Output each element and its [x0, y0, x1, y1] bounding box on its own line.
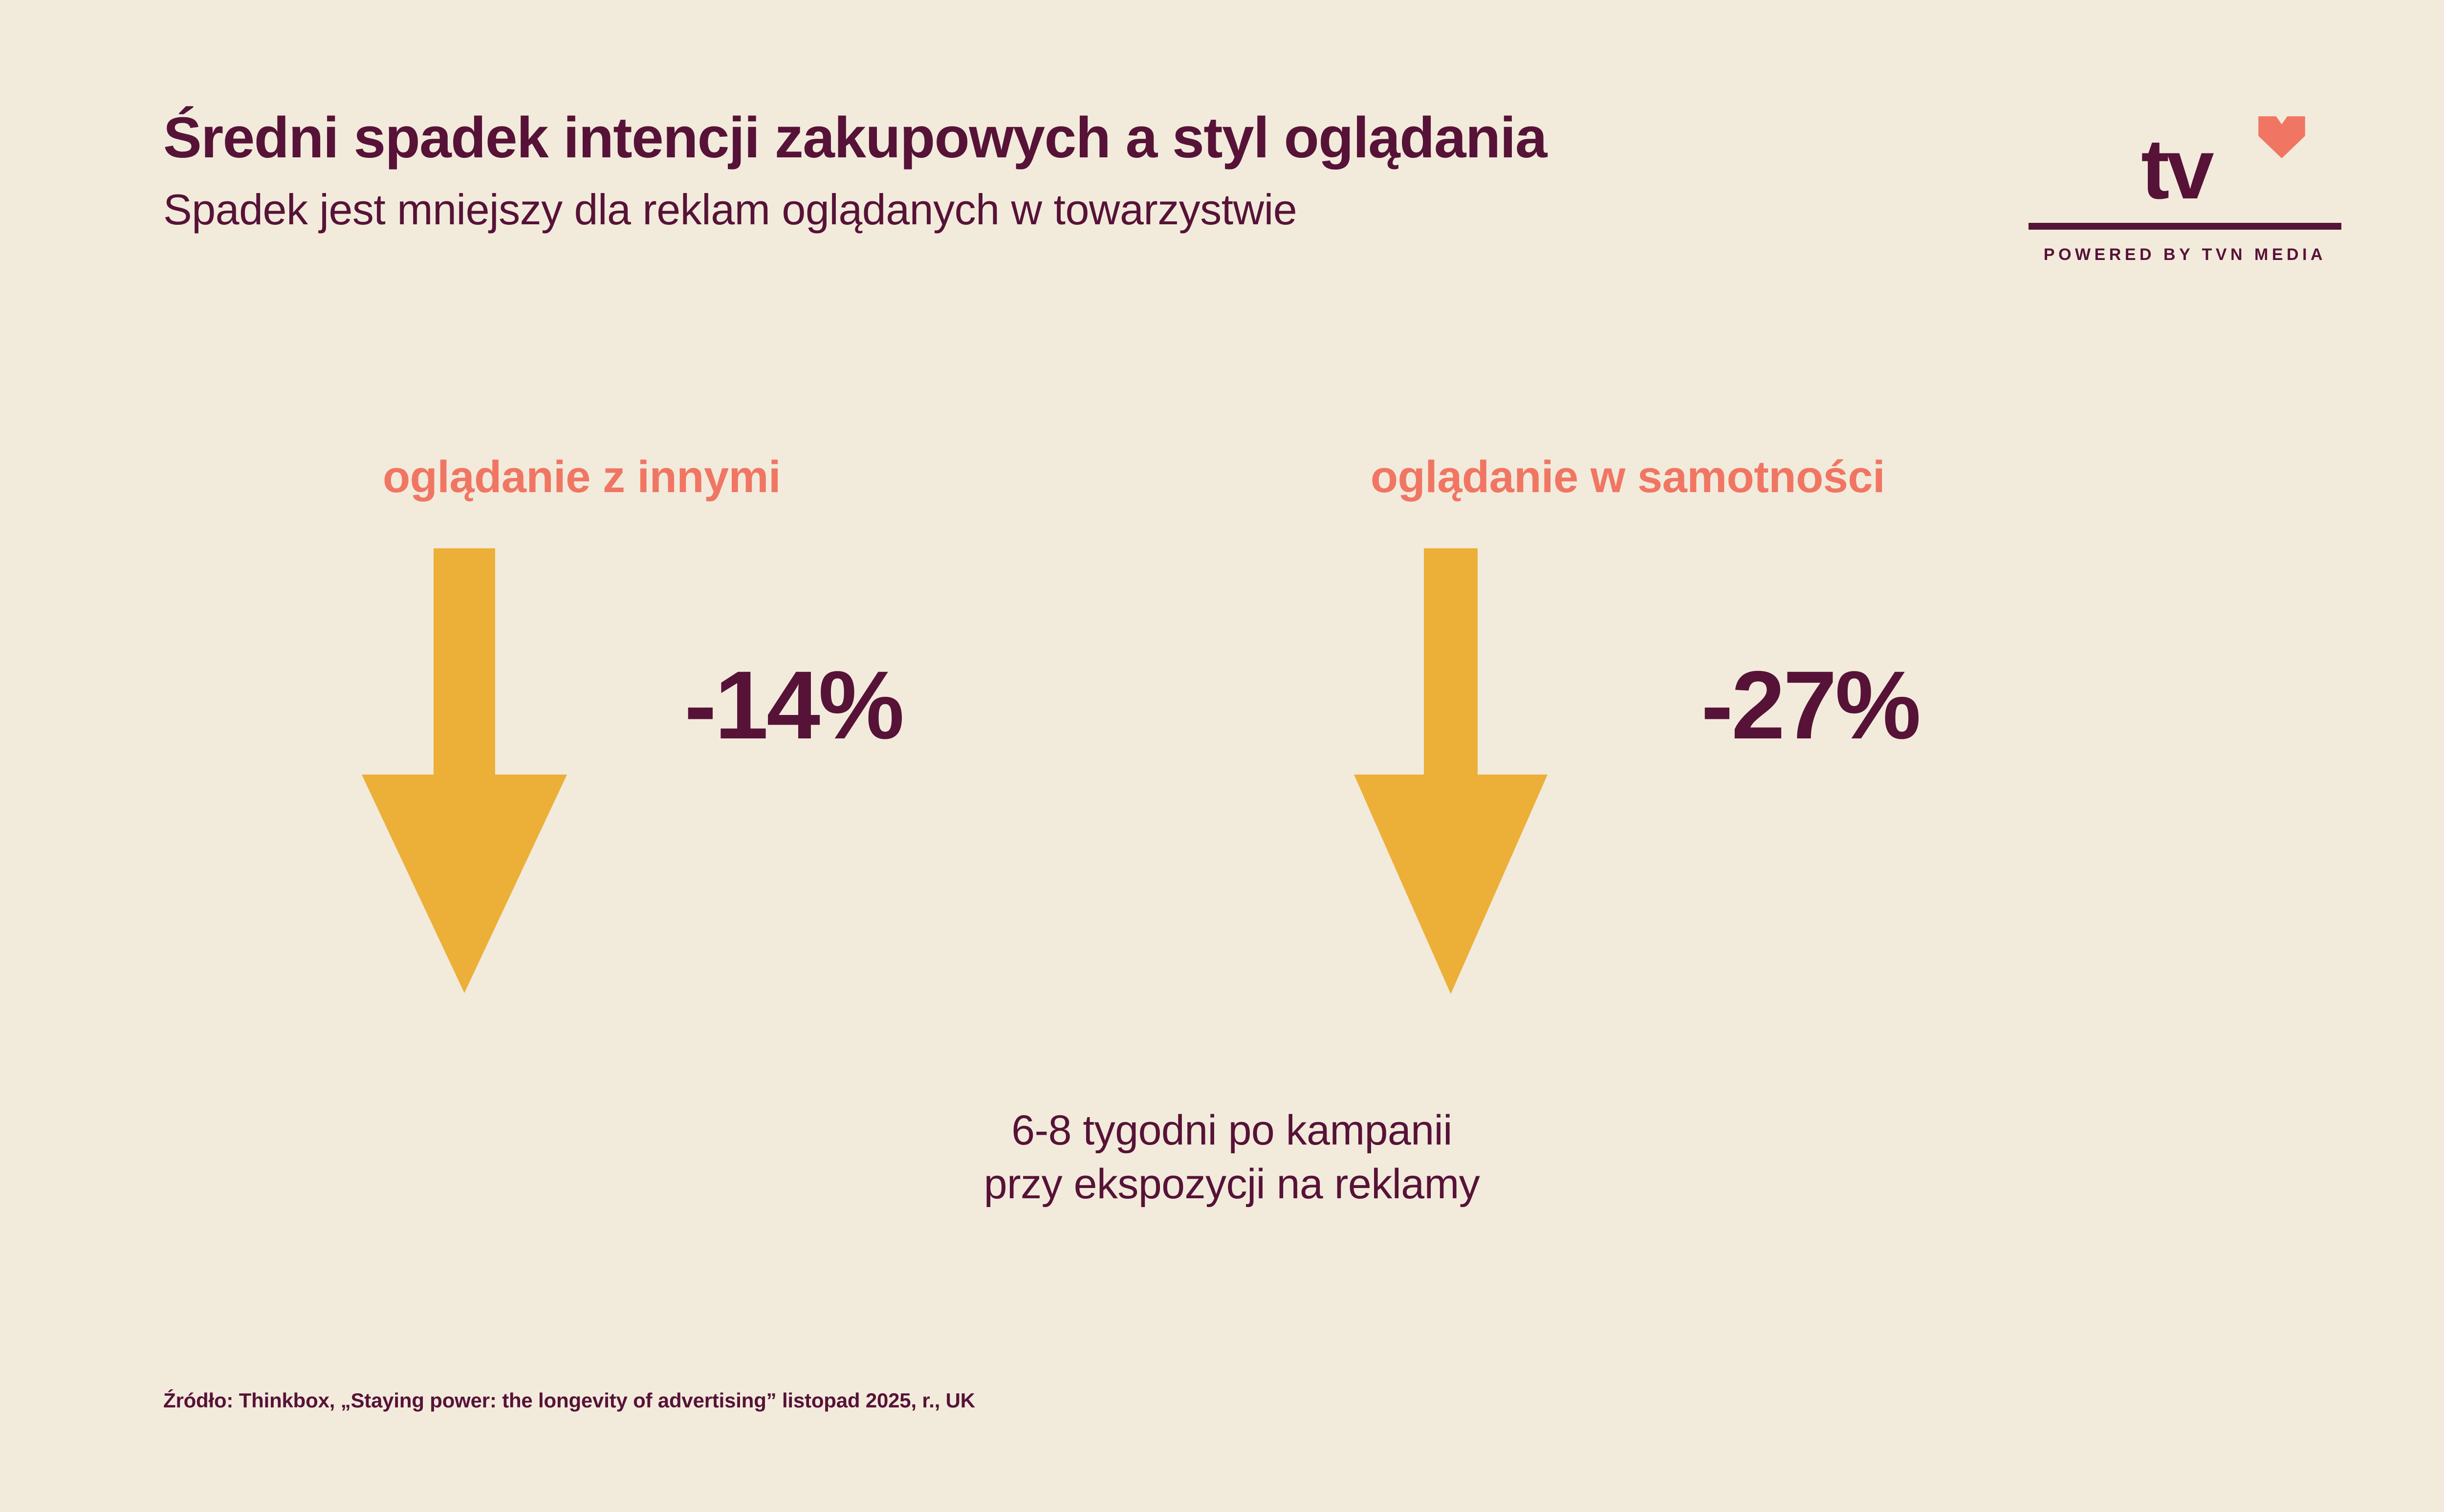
group-label-with-others: oglądanie z innymi: [264, 454, 899, 499]
header: Średni spadek intencji zakupowych a styl…: [163, 106, 1972, 236]
caption-line-1: 6-8 tygodni po kampanii: [0, 1103, 2444, 1157]
group-watching-alone: oglądanie w samotności -27%: [1261, 454, 1994, 1017]
logo-divider: [2029, 223, 2341, 230]
brand-logo: tv POWERED BY TVN MEDIA: [2029, 121, 2341, 264]
logo-tagline: POWERED BY TVN MEDIA: [2044, 245, 2326, 264]
logo-wordmark: tv: [2141, 134, 2211, 205]
caption-line-2: przy ekspozycji na reklamy: [0, 1157, 2444, 1211]
group-label-alone: oglądanie w samotności: [1261, 454, 1994, 499]
value-alone: -27%: [1701, 657, 1919, 754]
down-arrow-icon: [1354, 548, 1548, 994]
value-with-others: -14%: [684, 657, 902, 754]
group-body-with-others: -14%: [264, 548, 899, 1017]
logo-mark: tv: [2029, 121, 2341, 204]
down-arrow-icon: [362, 548, 567, 993]
group-body-alone: -27%: [1261, 548, 1994, 1017]
page-title: Średni spadek intencji zakupowych a styl…: [163, 106, 1972, 170]
caption: 6-8 tygodni po kampanii przy ekspozycji …: [0, 1103, 2444, 1211]
heart-icon: [2258, 116, 2305, 158]
group-watching-with-others: oglądanie z innymi -14%: [264, 454, 899, 1017]
source-note: Źródło: Thinkbox, „Staying power: the lo…: [163, 1389, 975, 1412]
infographic-canvas: Średni spadek intencji zakupowych a styl…: [0, 0, 2444, 1512]
page-subtitle: Spadek jest mniejszy dla reklam oglądany…: [163, 184, 1972, 236]
